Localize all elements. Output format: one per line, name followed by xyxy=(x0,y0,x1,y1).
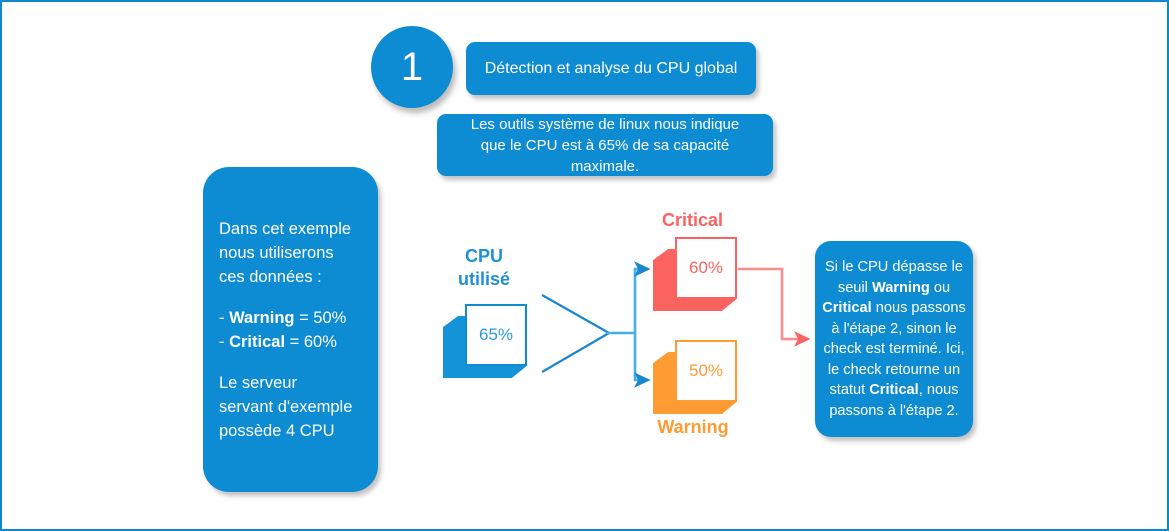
warning-threshold-line: - Warning = 50% xyxy=(219,306,378,330)
conclusion-text-2: ou xyxy=(930,280,950,296)
spacer-2 xyxy=(219,354,378,371)
intro-line-2: nous utiliserons xyxy=(219,241,378,265)
server-line-1: Le serveur xyxy=(219,371,378,395)
diagram-title-panel: Détection et analyse du CPU global xyxy=(466,42,756,95)
critical-dash: - xyxy=(219,333,229,351)
intro-line-1: Dans cet exemple xyxy=(219,217,378,241)
connector-to-warning xyxy=(635,333,648,380)
critical-label: Critical xyxy=(640,210,745,231)
spacer-1 xyxy=(219,289,378,306)
note-line-2: que le CPU est à 65% de sa capacité xyxy=(471,135,740,156)
server-line-2: servant d'exemple xyxy=(219,395,378,419)
note-panel: Les outils système de linux nous indique… xyxy=(437,114,773,176)
step-number-text: 1 xyxy=(401,45,423,90)
conclusion-critical-term: Critical xyxy=(822,300,871,316)
conclusion-critical-term-2: Critical xyxy=(869,382,918,398)
note-line-3: maximale. xyxy=(471,156,740,177)
warning-threshold-value: 50% xyxy=(689,361,723,381)
critical-threshold-line: - Critical = 60% xyxy=(219,330,378,354)
cpu-usage-box: 65% xyxy=(443,304,529,380)
cpu-used-label-line-1: CPU xyxy=(442,245,526,268)
note-line-1: Les outils système de linux nous indique xyxy=(471,114,740,135)
cpu-used-label: CPU utilisé xyxy=(442,245,526,291)
warning-label: Warning xyxy=(638,417,748,438)
step-number-badge: 1 xyxy=(371,26,453,108)
example-data-text: Dans cet exemple nous utiliserons ces do… xyxy=(219,217,378,443)
critical-value: = 60% xyxy=(285,333,337,351)
example-data-panel: Dans cet exemple nous utiliserons ces do… xyxy=(203,167,378,492)
conclusion-panel: Si le CPU dépasse le seuil Warning ou Cr… xyxy=(815,241,973,437)
warning-threshold-box: 50% xyxy=(653,340,739,416)
connector-to-critical xyxy=(635,269,648,333)
server-line-3: possède 4 CPU xyxy=(219,419,378,443)
warning-dash: - xyxy=(219,309,229,327)
critical-threshold-value: 60% xyxy=(689,258,723,278)
warning-term: Warning xyxy=(229,309,294,327)
critical-threshold-box-face: 60% xyxy=(675,237,737,299)
note-text: Les outils système de linux nous indique… xyxy=(471,114,740,177)
splitter-chevron-icon xyxy=(542,295,609,372)
conclusion-warning-term: Warning xyxy=(872,280,930,296)
critical-threshold-box: 60% xyxy=(653,237,739,313)
critical-term: Critical xyxy=(229,333,285,351)
warning-value: = 50% xyxy=(294,309,346,327)
connector-critical-to-conclusion xyxy=(738,269,808,339)
cpu-usage-value: 65% xyxy=(479,325,513,345)
warning-threshold-box-face: 50% xyxy=(675,340,737,402)
conclusion-text: Si le CPU dépasse le seuil Warning ou Cr… xyxy=(822,257,966,421)
diagram-title-text: Détection et analyse du CPU global xyxy=(485,60,738,78)
cpu-usage-box-face: 65% xyxy=(465,304,527,366)
cpu-used-label-line-2: utilisé xyxy=(442,268,526,291)
diagram-canvas: 1 Détection et analyse du CPU global Les… xyxy=(0,0,1169,531)
intro-line-3: ces données : xyxy=(219,265,378,289)
